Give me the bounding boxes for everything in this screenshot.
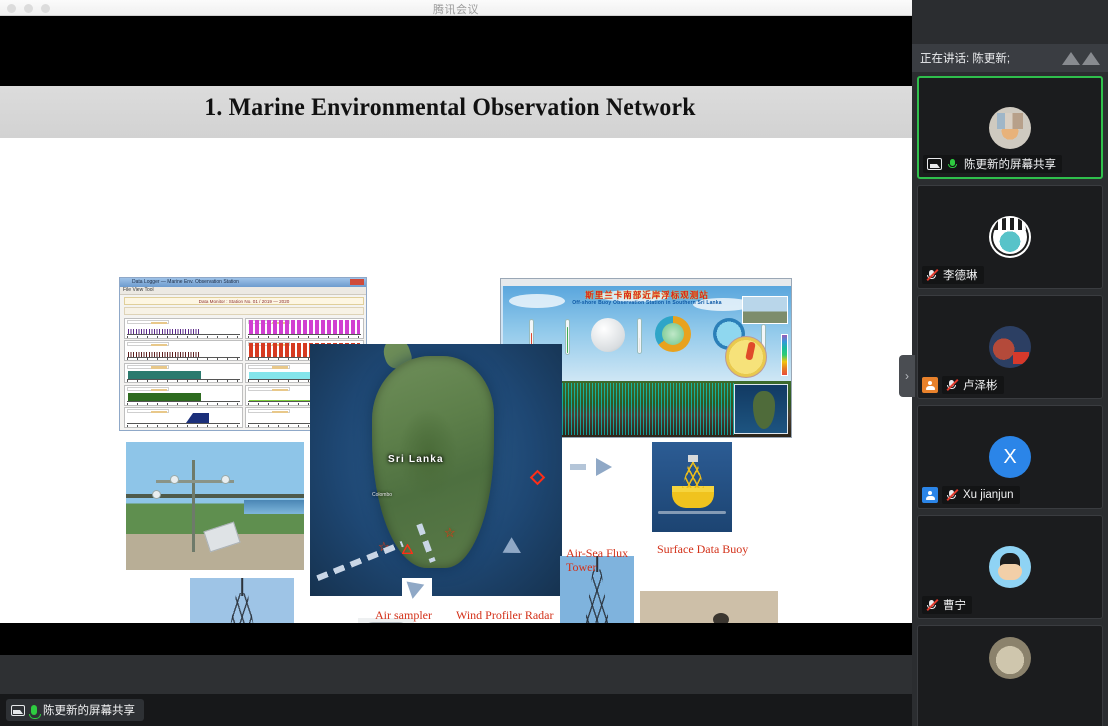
sri-lanka-satellite-map: Sri Lanka Colombo ☆ ☆ <box>310 344 562 596</box>
field-lab-photo <box>640 591 778 623</box>
software-titlebar-text: Data Logger — Marine Env. Observation St… <box>132 279 239 285</box>
software-filter-strip <box>124 307 364 315</box>
shared-app-background <box>0 655 912 694</box>
participant-tile-lidelin[interactable]: 李德琳 <box>917 185 1103 289</box>
avatar: X <box>989 436 1031 478</box>
buoy-tower <box>682 460 704 488</box>
flux-tower-photo-left <box>190 578 294 623</box>
tower-lattice <box>580 569 614 623</box>
pressure-gauge <box>637 318 642 354</box>
plot-panel <box>124 363 243 384</box>
caption-air-sampler: Air sampler <box>375 608 432 623</box>
photo-mast <box>192 460 195 552</box>
letterbox-bottom <box>0 623 912 655</box>
software-close-button <box>350 279 364 285</box>
window-title: 腾讯会议 <box>0 1 912 17</box>
participant-name-bar: 李德琳 <box>922 266 984 284</box>
participant-name-bar: 陈更新的屏幕共享 <box>923 155 1062 173</box>
shared-screen-content[interactable]: 1. Marine Environmental Observation Netw… <box>0 16 912 694</box>
participant-name: 卢泽彬 <box>963 377 998 393</box>
screen-share-icon <box>11 705 25 716</box>
active-speaker-banner: 正在讲话: 陈更新; <box>912 44 1108 72</box>
raise-hand-icon <box>922 377 938 393</box>
participant-name-bar: 卢泽彬 <box>922 376 1004 394</box>
participant-name-bar: 曹宁 <box>922 596 972 614</box>
wind-rose-diagram <box>725 336 767 378</box>
presentation-slide: 1. Marine Environmental Observation Netw… <box>0 86 912 623</box>
participant-name: 曹宁 <box>943 597 966 613</box>
mic-off-icon <box>946 489 958 502</box>
plot-panel <box>124 318 243 339</box>
screen-share-statusbar: 陈更新的屏幕共享 <box>0 694 912 726</box>
slide-body: Data Logger — Marine Env. Observation St… <box>0 138 912 623</box>
screen-share-indicator[interactable]: 陈更新的屏幕共享 <box>6 699 144 721</box>
photo-sensor <box>221 475 230 484</box>
map-flow-arrow-east <box>503 537 526 561</box>
participant-name: 陈更新的屏幕共享 <box>964 156 1056 172</box>
participant-tile-screen-share[interactable]: 陈更新的屏幕共享 <box>917 76 1103 179</box>
letterbox-top <box>0 16 912 86</box>
mic-off-icon <box>926 269 938 282</box>
map-country-label: Sri Lanka <box>388 454 444 465</box>
surface-data-buoy-photo <box>652 442 732 532</box>
active-speaker-label: 正在讲话: 陈更新; <box>920 50 1010 66</box>
map-marker-diamond <box>530 470 546 486</box>
mic-on-icon <box>947 158 959 171</box>
software-menubar: File View Tool <box>120 287 366 295</box>
map-flow-arrow-southwest <box>316 541 404 581</box>
buoy-sensors <box>688 455 698 462</box>
ring-gauge-a-core <box>662 323 684 345</box>
photo-instrument-box <box>203 522 240 553</box>
poster-map-inset <box>734 384 788 434</box>
participant-tile-xu-jianjun[interactable]: X Xu jianjun <box>917 405 1103 509</box>
station-photo-inset <box>742 296 788 324</box>
plot-panel <box>124 407 243 428</box>
plot-panel <box>245 318 364 339</box>
screen-share-icon <box>927 158 942 170</box>
mic-off-icon <box>926 599 938 612</box>
participant-tile-partial[interactable] <box>917 625 1103 726</box>
raise-hand-icon <box>922 487 938 503</box>
connector-arrow-right <box>570 455 632 479</box>
photo-sensor <box>152 490 161 499</box>
avatar <box>989 216 1031 258</box>
mic-on-icon <box>31 705 37 715</box>
panel-collapse-button[interactable]: › <box>899 355 915 397</box>
page-title: 1. Marine Environmental Observation Netw… <box>23 94 878 122</box>
avatar <box>989 326 1031 368</box>
avatar <box>989 546 1031 588</box>
software-banner-text: Data Monitor : Station No. 01 / 2019 — 2… <box>125 298 363 306</box>
weather-station-photo <box>126 442 304 570</box>
participant-name: 李德琳 <box>943 267 978 283</box>
photo-sensor <box>170 475 179 484</box>
tower-lattice <box>218 593 266 623</box>
screen-share-label: 陈更新的屏幕共享 <box>43 702 135 718</box>
software-titlebar: Data Logger — Marine Env. Observation St… <box>120 278 366 287</box>
window-titlebar: 腾讯会议 <box>0 0 912 16</box>
participant-tile-luzebin[interactable]: 卢泽彬 <box>917 295 1103 399</box>
participant-tile-caoning[interactable]: 曹宁 <box>917 515 1103 619</box>
poster-window-chrome <box>501 279 791 286</box>
software-banner: Data Monitor : Station No. 01 / 2019 — 2… <box>124 297 364 305</box>
sphere-gauge <box>591 318 625 352</box>
tower-mast <box>241 578 243 596</box>
plot-panel <box>124 385 243 406</box>
caption-air-sea-flux-tower-center: Air-Sea Flux Tower <box>566 546 630 574</box>
participant-tile-list[interactable]: 陈更新的屏幕共享 李德琳 <box>912 76 1108 726</box>
mic-off-icon <box>946 379 958 392</box>
humidity-gauge <box>565 319 570 355</box>
buoy-wake <box>658 511 726 514</box>
plot-panel <box>124 340 243 361</box>
avatar <box>989 107 1031 149</box>
participant-panel: 正在讲话: 陈更新; 陈更新的屏幕共享 <box>912 0 1108 726</box>
map-city-label: Colombo <box>372 492 392 498</box>
tencent-meeting-logo-icon <box>1062 52 1100 65</box>
map-marker-star: ☆ <box>444 526 456 539</box>
caption-wind-profiler-radar: Wind Profiler Radar <box>456 608 554 623</box>
participant-name-bar: Xu jianjun <box>922 486 1020 504</box>
caption-surface-data-buoy: Surface Data Buoy <box>657 542 748 557</box>
participant-name: Xu jianjun <box>963 489 1014 501</box>
avatar <box>989 637 1031 679</box>
color-scale-legend <box>781 334 788 376</box>
tencent-meeting-window: 腾讯会议 1. Marine Environmental Observation… <box>0 0 1108 726</box>
photo-sea <box>244 500 304 514</box>
connector-arrow-down <box>402 578 432 608</box>
